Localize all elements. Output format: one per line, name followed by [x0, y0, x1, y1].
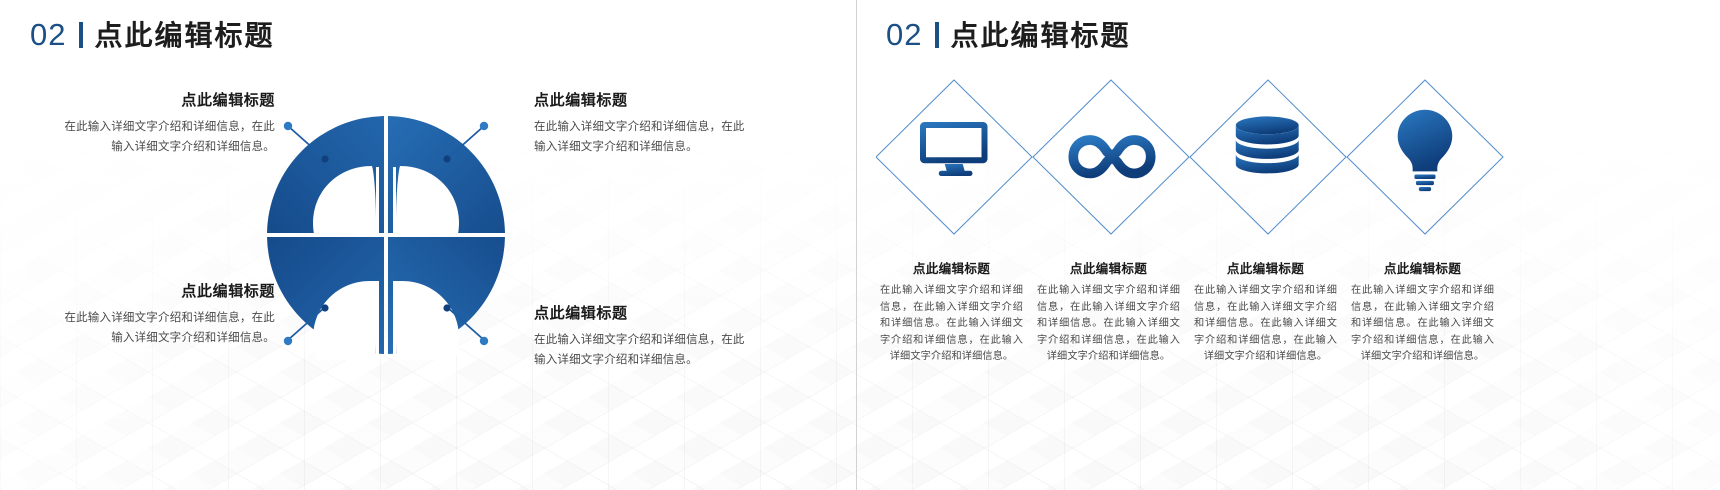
block-body: 在此输入详细文字介绍和详细信息，在此输入详细文字介绍和详细信息。 — [534, 330, 747, 370]
block-title: 点此编辑标题 — [62, 89, 275, 110]
left-text-block-top-left: 点此编辑标题 在此输入详细文字介绍和详细信息，在此输入详细文字介绍和详细信息。 — [62, 89, 275, 157]
diamond-outline-1 — [876, 80, 1032, 234]
lightbulb-icon — [1398, 110, 1453, 191]
connector-bottom-right — [432, 300, 492, 350]
left-heading-title: 点此编辑标题 — [94, 14, 274, 54]
connector-top-left — [280, 118, 340, 168]
block-body: 在此输入详细文字介绍和详细信息，在此输入详细文字介绍和详细信息。 — [62, 117, 275, 157]
connector-top-right — [432, 118, 492, 168]
block-body: 在此输入详细文字介绍和详细信息，在此输入详细文字介绍和详细信息。 — [534, 117, 747, 157]
column-title: 点此编辑标题 — [1194, 258, 1337, 277]
right-text-column-4: 点此编辑标题 在此输入详细文字介绍和详细信息，在此输入详细文字介绍和详细信息。在… — [1351, 258, 1494, 366]
left-heading-number: 02 — [30, 17, 66, 53]
block-body: 在此输入详细文字介绍和详细信息，在此输入详细文字介绍和详细信息。 — [62, 308, 275, 348]
right-heading-number: 02 — [886, 17, 922, 53]
monitor-icon — [920, 122, 988, 176]
column-title: 点此编辑标题 — [1037, 258, 1180, 277]
column-body: 在此输入详细文字介绍和详细信息，在此输入详细文字介绍和详细信息。在此输入详细文字… — [880, 283, 1023, 366]
column-title: 点此编辑标题 — [880, 258, 1023, 277]
infinity-icon — [1073, 140, 1150, 173]
right-text-column-3: 点此编辑标题 在此输入详细文字介绍和详细信息，在此输入详细文字介绍和详细信息。在… — [1194, 258, 1337, 366]
block-title: 点此编辑标题 — [534, 302, 747, 323]
column-body: 在此输入详细文字介绍和详细信息，在此输入详细文字介绍和详细信息。在此输入详细文字… — [1194, 283, 1337, 366]
column-title: 点此编辑标题 — [1351, 258, 1494, 277]
block-title: 点此编辑标题 — [62, 280, 275, 301]
right-slide-heading: 02 点此编辑标题 — [886, 14, 1131, 54]
right-text-column-1: 点此编辑标题 在此输入详细文字介绍和详细信息，在此输入详细文字介绍和详细信息。在… — [880, 258, 1023, 366]
block-title: 点此编辑标题 — [534, 89, 747, 110]
right-text-column-2: 点此编辑标题 在此输入详细文字介绍和详细信息，在此输入详细文字介绍和详细信息。在… — [1037, 258, 1180, 366]
panel-divider — [856, 0, 857, 490]
left-slide-heading: 02 点此编辑标题 — [30, 14, 275, 54]
column-body: 在此输入详细文字介绍和详细信息，在此输入详细文字介绍和详细信息。在此输入详细文字… — [1037, 283, 1180, 366]
left-text-block-bottom-left: 点此编辑标题 在此输入详细文字介绍和详细信息，在此输入详细文字介绍和详细信息。 — [62, 280, 275, 348]
heading-divider-bar — [935, 22, 939, 48]
slide-canvas: 02 点此编辑标题 — [0, 0, 1720, 490]
connector-bottom-left — [280, 300, 340, 350]
heading-divider-bar — [79, 22, 83, 48]
left-text-block-bottom-right: 点此编辑标题 在此输入详细文字介绍和详细信息，在此输入详细文字介绍和详细信息。 — [534, 302, 747, 370]
column-body: 在此输入详细文字介绍和详细信息，在此输入详细文字介绍和详细信息。在此输入详细文字… — [1351, 283, 1494, 366]
right-heading-title: 点此编辑标题 — [950, 14, 1130, 54]
left-text-block-top-right: 点此编辑标题 在此输入详细文字介绍和详细信息，在此输入详细文字介绍和详细信息。 — [534, 89, 747, 157]
database-icon — [1236, 116, 1299, 173]
diamond-icon-row — [876, 72, 1716, 242]
